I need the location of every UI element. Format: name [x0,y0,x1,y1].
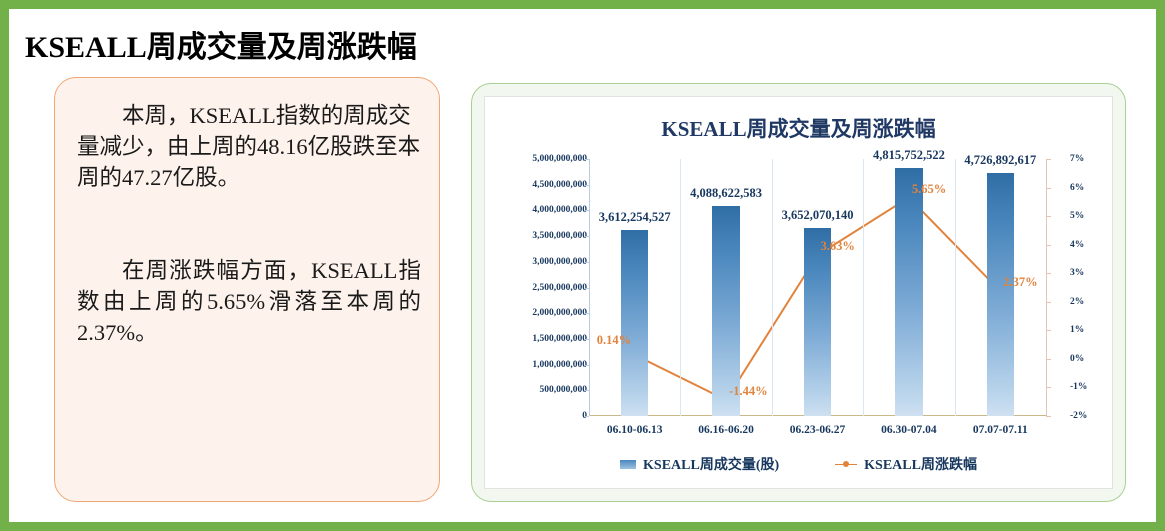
paragraph-spacer [77,193,421,255]
volume-bar[interactable] [804,228,831,416]
page-title: KSEALL周成交量及周涨跌幅 [25,22,417,66]
x-axis-label: 06.23-06.27 [790,424,846,436]
chart-panel: KSEALL周成交量及周涨跌幅 0500,000,0001,000,000,00… [471,83,1126,502]
volume-bar-label: 3,612,254,527 [599,210,671,225]
pct-change-label: 2.37% [1003,275,1037,290]
chart-plot-wrapper: 0500,000,0001,000,000,0001,500,000,0002,… [485,97,1112,488]
y-axis-right-tick: 1% [1070,325,1106,335]
pct-change-label: 0.14% [597,333,631,348]
y-axis-left-tick: 2,500,000,000 [491,283,587,293]
line-marker-icon [835,459,857,469]
category-gridline [863,159,864,416]
volume-bar[interactable] [987,173,1014,416]
y-axis-left-spine [589,159,590,416]
y-axis-right-tick: 6% [1070,183,1106,193]
x-axis-label: 06.16-06.20 [698,424,754,436]
volume-bar-label: 4,726,892,617 [964,153,1036,168]
y-axis-left-tick: 2,000,000,000 [491,308,587,318]
y-axis-left-tick: 3,500,000,000 [491,231,587,241]
y-axis-right-tick: 3% [1070,268,1106,278]
pct-change-label: 5.65% [912,182,946,197]
y-axis-right-spine [1046,159,1047,416]
pct-change-label: -1.44% [729,384,768,399]
volume-bar[interactable] [895,168,922,416]
y-axis-left-tick: 0 [491,411,587,421]
x-axis-label: 06.30-07.04 [881,424,937,436]
y-axis-right-tick: 5% [1070,211,1106,221]
y-axis-right-tick: -2% [1070,411,1106,421]
y-axis-left-tick: 4,000,000,000 [491,205,587,215]
y-axis-left-tick: 1,000,000,000 [491,360,587,370]
plot-area: 3,612,254,52706.10-06.134,088,622,58306.… [589,159,1046,416]
y-axis-left-tick: 500,000,000 [491,385,587,395]
y-axis-left-tick: 1,500,000,000 [491,334,587,344]
volume-bar-label: 4,088,622,583 [690,186,762,201]
commentary-paragraph-2: 在周涨跌幅方面，KSEALL指数由上周的5.65%滑落至本周的2.37%。 [77,255,421,348]
slide-frame: KSEALL周成交量及周涨跌幅 本周，KSEALL指数的周成交量减少，由上周的4… [0,0,1165,531]
legend-item-volume[interactable]: KSEALL周成交量(股) [620,454,779,474]
volume-bar-label: 4,815,752,522 [873,148,945,163]
pct-change-label: 3.63% [821,239,855,254]
y-axis-right-tick: 0% [1070,354,1106,364]
legend-label-change: KSEALL周涨跌幅 [864,454,977,474]
x-axis-label: 07.07-07.11 [973,424,1028,436]
y-axis-left-tick: 3,000,000,000 [491,257,587,267]
y-axis-right-tick: 7% [1070,154,1106,164]
bar-swatch-icon [620,460,636,469]
chart-card: KSEALL周成交量及周涨跌幅 0500,000,0001,000,000,00… [484,96,1113,489]
x-axis-label: 06.10-06.13 [607,424,663,436]
y-axis-right-tickmark [1046,416,1051,417]
volume-bar-label: 3,652,070,140 [782,208,854,223]
category-gridline [955,159,956,416]
slide-content: KSEALL周成交量及周涨跌幅 本周，KSEALL指数的周成交量减少，由上周的4… [9,9,1156,522]
legend-item-change[interactable]: KSEALL周涨跌幅 [835,454,977,474]
chart-legend: KSEALL周成交量(股) KSEALL周涨跌幅 [485,454,1112,474]
category-gridline [772,159,773,416]
volume-bar[interactable] [621,230,648,416]
y-axis-right-tick: 2% [1070,297,1106,307]
y-axis-left-tick: 4,500,000,000 [491,180,587,190]
commentary-paragraph-1: 本周，KSEALL指数的周成交量减少，由上周的48.16亿股跌至本周的47.27… [77,100,421,193]
y-axis-left-tickmark [584,416,589,417]
y-axis-right-tick: 4% [1070,240,1106,250]
commentary-panel: 本周，KSEALL指数的周成交量减少，由上周的48.16亿股跌至本周的47.27… [54,77,440,502]
legend-label-volume: KSEALL周成交量(股) [643,454,779,474]
y-axis-left-tick: 5,000,000,000 [491,154,587,164]
category-gridline [680,159,681,416]
commentary-text: 本周，KSEALL指数的周成交量减少，由上周的48.16亿股跌至本周的47.27… [77,100,421,348]
y-axis-right-tick: -1% [1070,382,1106,392]
